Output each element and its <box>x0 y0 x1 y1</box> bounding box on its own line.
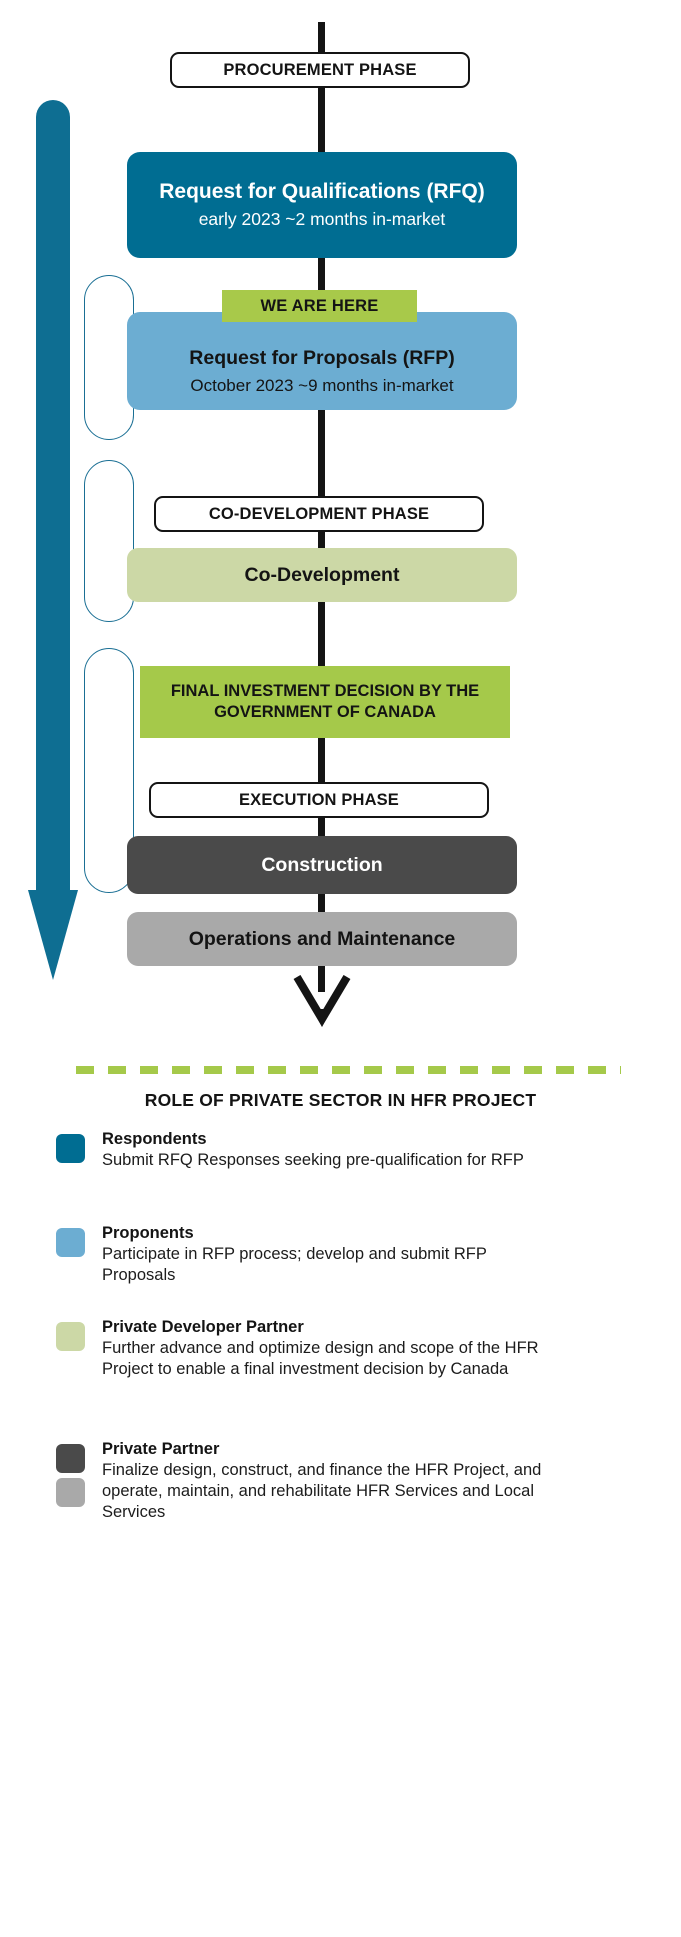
legend-desc-respondents: Submit RFQ Responses seeking pre-qualifi… <box>102 1150 554 1171</box>
engagement-arrow-head-icon <box>28 890 78 980</box>
stage-rfp-subtitle: October 2023 ~9 months in-market <box>190 376 453 396</box>
we-are-here-badge: WE ARE HERE <box>222 290 417 322</box>
ongoing-engagement-arrow <box>28 100 78 980</box>
phase-co-development-box: CO-DEVELOPMENT PHASE <box>154 496 484 532</box>
legend-swatch-private-partner-light <box>56 1478 85 1507</box>
infographic-root: Ongoing engagement with municipalities, … <box>0 0 681 1937</box>
phase-procurement-box: PROCUREMENT PHASE <box>170 52 470 88</box>
legend-text-private-developer-partner: Private Developer Partner Further advanc… <box>102 1318 554 1380</box>
phase-co-development-label: CO-DEVELOPMENT PHASE <box>209 505 429 524</box>
stage-rfp-title: Request for Proposals (RFP) <box>189 347 454 370</box>
legend-swatch-respondents <box>56 1134 85 1163</box>
legend-desc-proponents: Participate in RFP process; develop and … <box>102 1244 554 1286</box>
legend-title: ROLE OF PRIVATE SECTOR IN HFR PROJECT <box>0 1090 681 1111</box>
stage-construction: Construction <box>127 836 517 894</box>
stage-construction-title: Construction <box>261 854 382 877</box>
legend-swatch-private-developer-partner <box>56 1322 85 1351</box>
legend-name-private-partner: Private Partner <box>102 1440 554 1459</box>
legend-name-respondents: Respondents <box>102 1130 554 1149</box>
timeline-arrow-icon <box>293 975 351 1027</box>
stage-co-development-title: Co-Development <box>245 564 400 587</box>
phase-execution-box: EXECUTION PHASE <box>149 782 489 818</box>
legend-text-respondents: Respondents Submit RFQ Responses seeking… <box>102 1130 554 1171</box>
phase-execution-label: EXECUTION PHASE <box>239 791 399 810</box>
legend-desc-private-developer-partner: Further advance and optimize design and … <box>102 1338 554 1380</box>
legend-name-proponents: Proponents <box>102 1224 554 1243</box>
legend-desc-private-partner: Finalize design, construct, and finance … <box>102 1460 554 1522</box>
dashed-divider <box>76 1066 621 1074</box>
pre-development-agreement-bracket <box>84 460 134 622</box>
stage-rfq: Request for Qualifications (RFQ) early 2… <box>127 152 517 258</box>
stage-rfq-subtitle: early 2023 ~2 months in-market <box>199 209 446 230</box>
phase-procurement-label: PROCUREMENT PHASE <box>223 61 416 80</box>
stage-co-development: Co-Development <box>127 548 517 602</box>
legend-text-private-partner: Private Partner Finalize design, constru… <box>102 1440 554 1523</box>
stage-rfq-title: Request for Qualifications (RFQ) <box>159 180 485 204</box>
stage-rfp: Request for Proposals (RFP) October 2023… <box>127 312 517 410</box>
legend-name-private-developer-partner: Private Developer Partner <box>102 1318 554 1337</box>
engagement-arrow-shaft <box>36 100 70 900</box>
legend-swatch-proponents <box>56 1228 85 1257</box>
stage-operations-maintenance: Operations and Maintenance <box>127 912 517 966</box>
legend-swatch-private-partner-dark <box>56 1444 85 1473</box>
final-investment-decision-banner: FINAL INVESTMENT DECISION BY THE GOVERNM… <box>140 666 510 738</box>
stage-operations-maintenance-title: Operations and Maintenance <box>189 928 456 951</box>
legend-text-proponents: Proponents Participate in RFP process; d… <box>102 1224 554 1286</box>
